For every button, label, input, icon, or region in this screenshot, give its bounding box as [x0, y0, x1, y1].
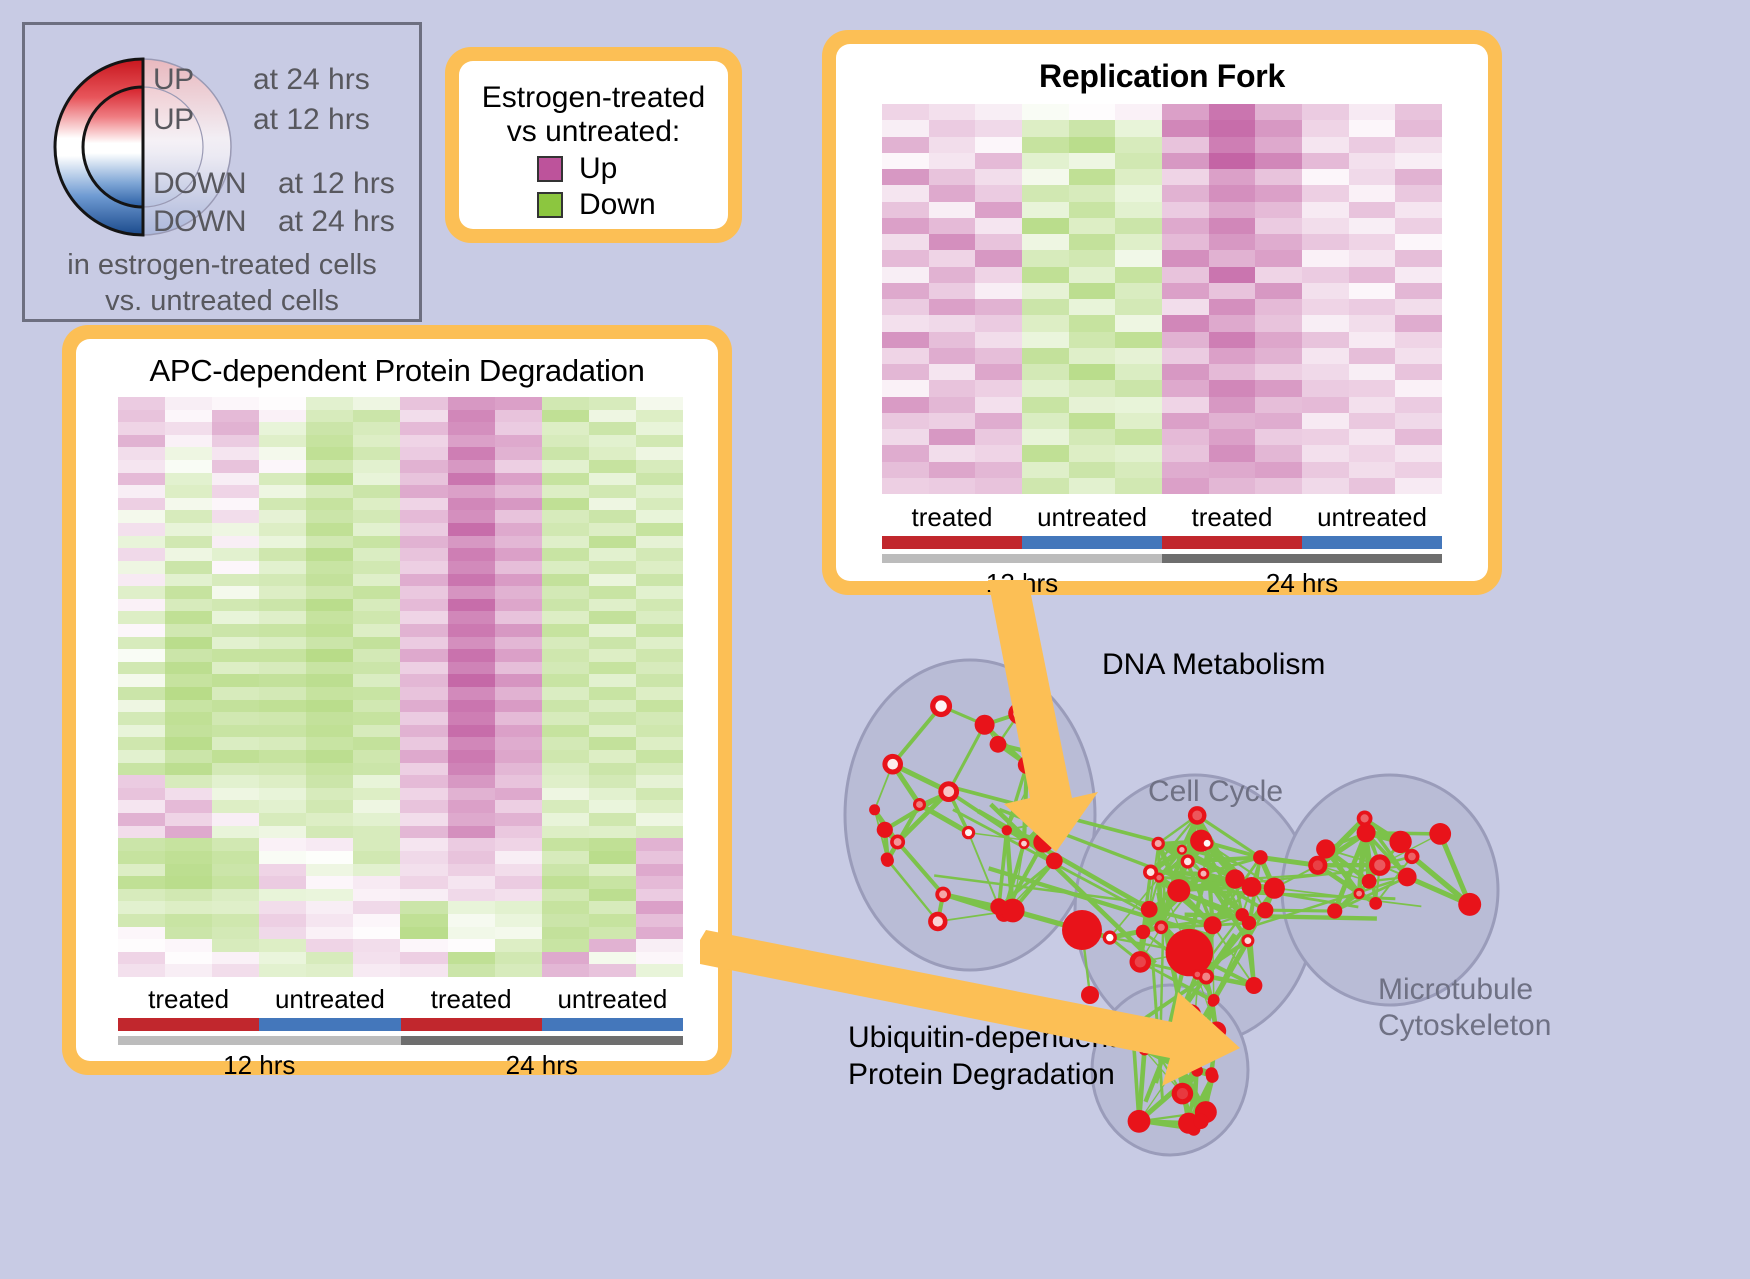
heat-cell	[306, 763, 353, 776]
heat-cell	[259, 687, 306, 700]
heat-cell	[975, 364, 1022, 380]
heat-cell	[975, 462, 1022, 478]
heat-cell	[448, 687, 495, 700]
heat-cell	[636, 725, 683, 738]
heat-cell	[118, 838, 165, 851]
heat-cell	[882, 299, 929, 315]
heat-cell	[882, 234, 929, 250]
heat-cell	[1209, 267, 1256, 283]
heat-cell	[1349, 348, 1396, 364]
heat-cell	[1349, 202, 1396, 218]
heat-cell	[118, 939, 165, 952]
heat-cell	[1022, 445, 1069, 461]
network-node[interactable]	[1225, 869, 1244, 888]
heat-cell	[1115, 169, 1162, 185]
network-node[interactable]	[1327, 903, 1342, 918]
heat-cell	[353, 700, 400, 713]
heat-cell	[929, 364, 976, 380]
network-node-core	[916, 801, 923, 808]
arrow-replication-fork-to-dna	[960, 580, 1160, 860]
heat-cell	[1115, 348, 1162, 364]
heat-cell	[212, 485, 259, 498]
heat-cell	[589, 649, 636, 662]
network-node[interactable]	[1242, 916, 1256, 930]
wheel-label-up-24: UP	[153, 63, 194, 97]
heat-cell	[495, 700, 542, 713]
heat-cell	[1302, 169, 1349, 185]
heat-cell	[1069, 169, 1116, 185]
heat-cell	[400, 889, 447, 902]
network-node[interactable]	[1257, 902, 1273, 918]
heat-cell	[1069, 137, 1116, 153]
heat-cell	[1069, 348, 1116, 364]
heat-cell	[1069, 478, 1116, 494]
heat-cell	[589, 763, 636, 776]
heat-cell	[353, 447, 400, 460]
heat-cell	[1209, 218, 1256, 234]
heat-cell	[400, 410, 447, 423]
heat-cell	[882, 332, 929, 348]
heat-cell	[975, 478, 1022, 494]
heat-cell	[542, 826, 589, 839]
heat-cell	[212, 624, 259, 637]
heat-cell	[975, 299, 1022, 315]
heat-cell	[495, 952, 542, 965]
heat-cell	[1115, 283, 1162, 299]
heat-cell	[1255, 218, 1302, 234]
heat-cell	[636, 523, 683, 536]
heat-cell	[495, 422, 542, 435]
heat-cell	[882, 267, 929, 283]
heat-cell	[1069, 104, 1116, 120]
heat-cell	[400, 712, 447, 725]
heat-cell	[259, 788, 306, 801]
heat-cell	[306, 611, 353, 624]
heat-cell	[636, 687, 683, 700]
heat-cell	[1022, 397, 1069, 413]
heat-cell	[259, 750, 306, 763]
heat-cell	[353, 599, 400, 612]
cond-bar-2	[1162, 536, 1302, 549]
network-node-core	[1361, 814, 1369, 822]
heat-cell	[353, 813, 400, 826]
heat-cell	[636, 838, 683, 851]
heat-cell	[448, 876, 495, 889]
time-label-24: 24 hrs	[1162, 568, 1442, 599]
heat-cell	[165, 473, 212, 486]
heat-cell	[212, 775, 259, 788]
heat-cell	[353, 876, 400, 889]
heat-cell	[542, 927, 589, 940]
heat-cell	[975, 137, 1022, 153]
heat-cell	[448, 800, 495, 813]
heat-cell	[1349, 234, 1396, 250]
heat-cell	[589, 498, 636, 511]
heat-cell	[542, 687, 589, 700]
network-node[interactable]	[1167, 879, 1190, 902]
heat-cell	[1349, 445, 1396, 461]
apc-condition-bar	[118, 1018, 683, 1031]
heat-cell	[1349, 120, 1396, 136]
network-node[interactable]	[1362, 874, 1377, 889]
heat-cell	[400, 561, 447, 574]
heat-cell	[259, 813, 306, 826]
heat-cell	[306, 750, 353, 763]
heat-cell	[495, 523, 542, 536]
heat-cell	[636, 410, 683, 423]
heat-cell	[259, 649, 306, 662]
heat-cell	[1302, 234, 1349, 250]
heat-cell	[636, 864, 683, 877]
heat-cell	[1209, 137, 1256, 153]
heat-cell	[495, 763, 542, 776]
heat-cell	[1395, 429, 1442, 445]
heat-cell	[1069, 153, 1116, 169]
heat-cell	[495, 637, 542, 650]
heat-cell	[975, 348, 1022, 364]
heat-cell	[1209, 462, 1256, 478]
heat-cell	[929, 332, 976, 348]
heat-cell	[929, 137, 976, 153]
heat-cell	[542, 586, 589, 599]
heat-cell	[353, 712, 400, 725]
heat-cell	[1115, 332, 1162, 348]
heat-cell	[212, 901, 259, 914]
heat-cell	[400, 788, 447, 801]
heat-cell	[1022, 315, 1069, 331]
heat-cell	[353, 586, 400, 599]
heat-cell	[495, 447, 542, 460]
heat-cell	[448, 763, 495, 776]
network-node[interactable]	[1264, 878, 1285, 899]
heat-cell	[353, 826, 400, 839]
network-node[interactable]	[1458, 893, 1481, 916]
heat-cell	[1395, 202, 1442, 218]
heat-cell	[636, 498, 683, 511]
heat-cell	[118, 397, 165, 410]
heat-cell	[448, 510, 495, 523]
heat-cell	[165, 826, 212, 839]
network-node-core	[1179, 847, 1184, 852]
network-node[interactable]	[1398, 868, 1417, 887]
heat-cell	[542, 964, 589, 977]
heat-cell	[1255, 332, 1302, 348]
heat-cell	[1022, 169, 1069, 185]
network-node[interactable]	[1369, 897, 1382, 910]
heat-cell	[165, 498, 212, 511]
heat-cell	[306, 473, 353, 486]
heat-cell	[1069, 299, 1116, 315]
cluster-label-microtubule-line1: Microtubule	[1378, 972, 1551, 1008]
heat-cell	[495, 662, 542, 675]
heat-cell	[259, 889, 306, 902]
heat-cell	[589, 447, 636, 460]
heat-cell	[589, 460, 636, 473]
heat-cell	[1302, 478, 1349, 494]
heat-cell	[259, 927, 306, 940]
heat-cell	[495, 914, 542, 927]
heat-cell	[1395, 445, 1442, 461]
heat-cell	[212, 788, 259, 801]
heat-cell	[259, 712, 306, 725]
replication-fork-heatmap	[882, 104, 1442, 494]
heat-cell	[165, 460, 212, 473]
network-node[interactable]	[1429, 823, 1451, 845]
apc-degradation-heatmap	[118, 397, 683, 977]
heat-cell	[1162, 380, 1209, 396]
heat-cell	[118, 952, 165, 965]
heat-cell	[495, 485, 542, 498]
heat-cell	[259, 800, 306, 813]
heat-cell	[636, 637, 683, 650]
network-node-core	[933, 916, 943, 926]
heat-cell	[118, 637, 165, 650]
heat-cell	[542, 813, 589, 826]
heat-cell	[212, 712, 259, 725]
heat-cell	[1022, 250, 1069, 266]
heat-cell	[448, 725, 495, 738]
heat-cell	[118, 599, 165, 612]
heat-cell	[929, 413, 976, 429]
heat-cell	[542, 435, 589, 448]
heat-cell	[1162, 202, 1209, 218]
heat-cell	[589, 637, 636, 650]
heat-cell	[400, 460, 447, 473]
heat-cell	[259, 611, 306, 624]
heat-cell	[636, 599, 683, 612]
heat-cell	[165, 523, 212, 536]
apc-cond-bar-3	[542, 1018, 683, 1031]
heat-cell	[165, 914, 212, 927]
heat-cell	[636, 889, 683, 902]
heat-cell	[495, 788, 542, 801]
heat-cell	[259, 498, 306, 511]
heat-cell	[1395, 332, 1442, 348]
heat-cell	[118, 422, 165, 435]
heat-cell	[1395, 104, 1442, 120]
heat-cell	[495, 649, 542, 662]
heat-cell	[353, 548, 400, 561]
heat-cell	[353, 536, 400, 549]
heat-cell	[1209, 413, 1256, 429]
heat-cell	[118, 737, 165, 750]
heat-cell	[1302, 413, 1349, 429]
heat-cell	[542, 901, 589, 914]
heat-cell	[212, 586, 259, 599]
heat-cell	[118, 624, 165, 637]
heat-cell	[165, 435, 212, 448]
heat-cell	[929, 445, 976, 461]
network-node[interactable]	[1193, 1114, 1208, 1129]
heat-cell	[495, 826, 542, 839]
heat-cell	[448, 775, 495, 788]
heat-cell	[353, 574, 400, 587]
heat-cell	[306, 939, 353, 952]
heat-cell	[306, 485, 353, 498]
heat-cell	[165, 586, 212, 599]
heat-cell	[400, 800, 447, 813]
heat-cell	[400, 510, 447, 523]
heat-cell	[1069, 267, 1116, 283]
heat-cell	[118, 611, 165, 624]
heat-cell	[636, 611, 683, 624]
heat-cell	[1395, 185, 1442, 201]
heat-cell	[1302, 283, 1349, 299]
heat-cell	[882, 462, 929, 478]
heat-cell	[975, 185, 1022, 201]
network-node[interactable]	[1316, 839, 1335, 858]
heat-cell	[306, 800, 353, 813]
heat-cell	[1162, 348, 1209, 364]
heat-cell	[929, 348, 976, 364]
heat-cell	[1302, 137, 1349, 153]
heat-cell	[118, 763, 165, 776]
heat-cell	[589, 523, 636, 536]
heat-cell	[353, 914, 400, 927]
heat-cell	[400, 939, 447, 952]
heat-cell	[495, 964, 542, 977]
heat-cell	[542, 460, 589, 473]
heat-cell	[306, 422, 353, 435]
apc-cond-bar-0	[118, 1018, 259, 1031]
heat-cell	[542, 649, 589, 662]
heat-cell	[165, 851, 212, 864]
network-node-core	[1147, 868, 1155, 876]
heat-cell	[118, 964, 165, 977]
heat-cell	[1022, 153, 1069, 169]
heat-cell	[975, 104, 1022, 120]
time-bar-24	[1162, 554, 1442, 563]
heat-cell	[1349, 283, 1396, 299]
heat-cell	[1069, 202, 1116, 218]
heat-cell	[165, 397, 212, 410]
heat-cell	[212, 397, 259, 410]
wheel-label-down-24: DOWN	[153, 205, 246, 239]
heat-cell	[400, 624, 447, 637]
heat-cell	[118, 889, 165, 902]
heat-cell	[353, 485, 400, 498]
heat-cell	[636, 485, 683, 498]
network-node[interactable]	[1141, 901, 1158, 918]
heat-cell	[1349, 315, 1396, 331]
heat-cell	[448, 611, 495, 624]
heat-cell	[165, 687, 212, 700]
heat-cell	[1209, 380, 1256, 396]
heat-cell	[306, 510, 353, 523]
heat-cell	[1069, 462, 1116, 478]
heat-cell	[1395, 462, 1442, 478]
heat-cell	[589, 737, 636, 750]
heat-cell	[636, 939, 683, 952]
network-node[interactable]	[869, 804, 880, 815]
heat-cell	[542, 674, 589, 687]
heat-cell	[1162, 413, 1209, 429]
heat-cell	[165, 939, 212, 952]
heat-cell	[165, 700, 212, 713]
heat-cell	[495, 435, 542, 448]
heat-cell	[1395, 267, 1442, 283]
network-node[interactable]	[990, 898, 1007, 915]
heat-cell	[1022, 283, 1069, 299]
heat-cell	[1395, 478, 1442, 494]
heat-cell	[882, 202, 929, 218]
heat-cell	[448, 952, 495, 965]
heat-cell	[636, 737, 683, 750]
heat-cell	[495, 712, 542, 725]
heat-cell	[1302, 267, 1349, 283]
heat-cell	[306, 876, 353, 889]
heat-cell	[589, 750, 636, 763]
heat-cell	[118, 498, 165, 511]
heat-cell	[306, 813, 353, 826]
heat-cell	[306, 498, 353, 511]
heat-cell	[1022, 234, 1069, 250]
key-title-line1: Estrogen-treated	[459, 81, 728, 115]
heat-cell	[400, 637, 447, 650]
heat-cell	[1209, 315, 1256, 331]
heat-cell	[353, 725, 400, 738]
heat-cell	[306, 548, 353, 561]
heat-cell	[448, 914, 495, 927]
heat-cell	[1022, 462, 1069, 478]
heat-cell	[929, 169, 976, 185]
heat-cell	[1022, 218, 1069, 234]
heat-cell	[448, 662, 495, 675]
heat-cell	[1115, 218, 1162, 234]
key-label-down: Down	[579, 188, 656, 222]
network-node[interactable]	[1128, 1110, 1151, 1133]
heat-cell	[1209, 364, 1256, 380]
heat-cell	[929, 299, 976, 315]
heat-cell	[1162, 445, 1209, 461]
heat-cell	[306, 624, 353, 637]
heat-cell	[118, 712, 165, 725]
heat-cell	[882, 153, 929, 169]
heat-cell	[118, 725, 165, 738]
heat-cell	[212, 737, 259, 750]
heat-cell	[1302, 332, 1349, 348]
heat-cell	[1395, 250, 1442, 266]
apc-condition-labels: treated untreated treated untreated	[118, 984, 683, 1015]
heat-cell	[259, 964, 306, 977]
heat-cell	[400, 838, 447, 851]
heat-cell	[495, 864, 542, 877]
wheel-label-down-12: DOWN	[153, 167, 246, 201]
heat-cell	[353, 410, 400, 423]
network-node[interactable]	[877, 822, 893, 838]
heat-cell	[1209, 250, 1256, 266]
heat-cell	[353, 435, 400, 448]
network-node[interactable]	[881, 854, 894, 867]
heat-cell	[589, 851, 636, 864]
heat-cell	[400, 674, 447, 687]
heat-cell	[353, 662, 400, 675]
network-node[interactable]	[1389, 831, 1411, 853]
heat-cell	[1209, 332, 1256, 348]
network-node[interactable]	[1253, 850, 1268, 865]
heat-cell	[1255, 315, 1302, 331]
heat-cell	[1209, 234, 1256, 250]
heat-cell	[1162, 332, 1209, 348]
heat-cell	[259, 536, 306, 549]
heat-cell	[400, 750, 447, 763]
heat-cell	[1302, 397, 1349, 413]
heat-cell	[636, 561, 683, 574]
heat-cell	[882, 250, 929, 266]
heat-cell	[495, 813, 542, 826]
heat-cell	[212, 800, 259, 813]
heat-cell	[306, 851, 353, 864]
